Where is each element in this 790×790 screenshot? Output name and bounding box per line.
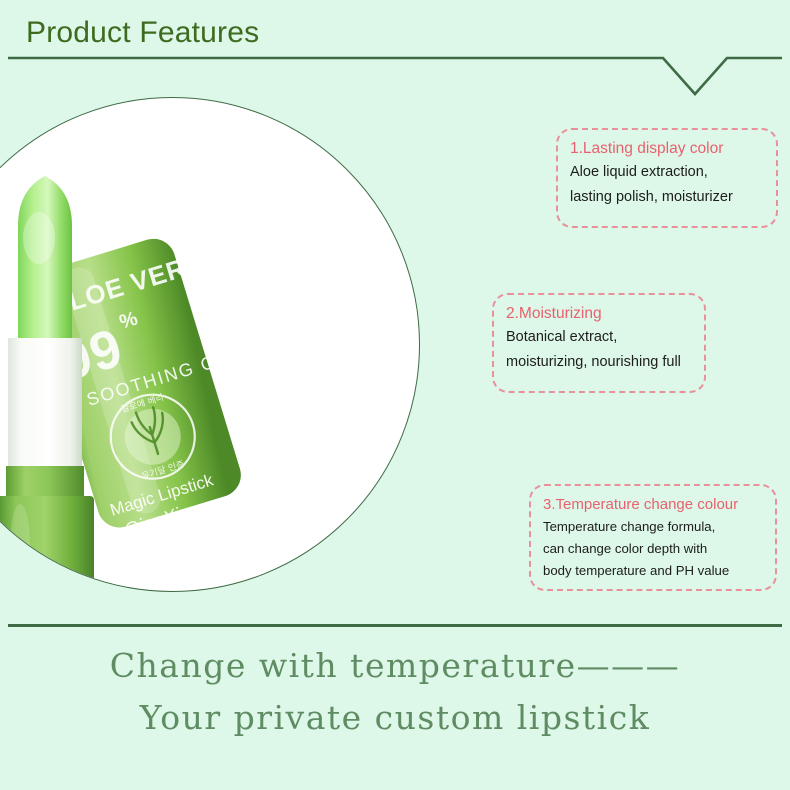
product-photo-illustration: ALOE VERA % 99 SOOTHING GEL [0, 98, 420, 592]
feature-line: Aloe liquid extraction, [570, 160, 766, 185]
feature-line: lasting polish, moisturizer [570, 185, 766, 210]
page-title: Product Features [26, 14, 259, 52]
feature-line: Temperature change formula, [543, 516, 765, 538]
product-features-page: Product Features [0, 0, 790, 790]
tagline-line-2: Your private custom lipstick [0, 692, 790, 744]
footer-divider [8, 624, 782, 627]
feature-title: 1.Lasting display color [570, 138, 766, 160]
header-divider-with-notch [0, 48, 790, 100]
tagline-line-1: Change with temperature——— [0, 640, 790, 692]
product-photo: ALOE VERA % 99 SOOTHING GEL [0, 97, 420, 592]
feature-title: 2.Moisturizing [506, 303, 694, 325]
feature-line: can change color depth with [543, 538, 765, 560]
feature-line: body temperature and PH value [543, 560, 765, 582]
feature-line: moisturizing, nourishing full [506, 350, 694, 375]
tagline: Change with temperature——— Your private … [0, 640, 790, 744]
feature-box-temperature-change-colour: 3.Temperature change colour Temperature … [529, 484, 777, 591]
lipstick-bullet-open [0, 176, 94, 592]
feature-box-moisturizing: 2.Moisturizing Botanical extract, moistu… [492, 293, 706, 393]
feature-box-lasting-display-color: 1.Lasting display color Aloe liquid extr… [556, 128, 778, 228]
feature-title: 3.Temperature change colour [543, 494, 765, 516]
feature-line: Botanical extract, [506, 325, 694, 350]
